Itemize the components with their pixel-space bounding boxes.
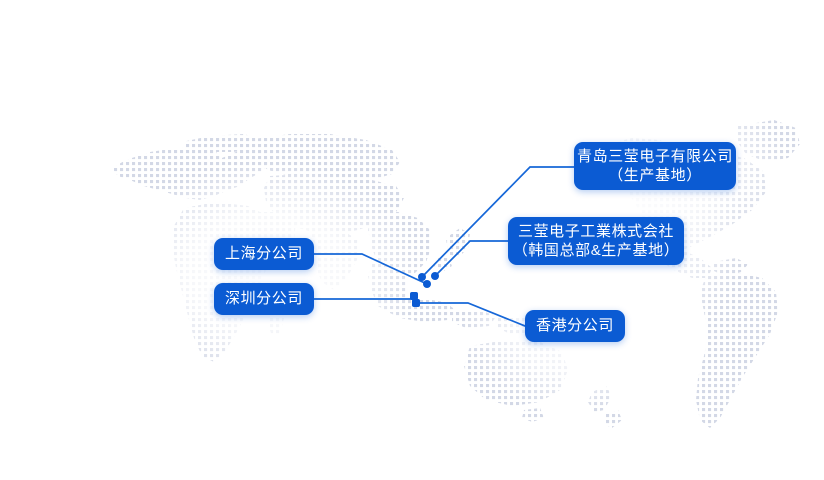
callout-qingdao-line2: （生产基地）	[608, 166, 702, 185]
callout-shenzhen-line1: 深圳分公司	[225, 289, 303, 308]
global-map-infographic: 青岛三莹电子有限公司 （生产基地） 三莹电子工業株式会社 （韩国总部&生产基地）…	[0, 0, 824, 480]
callout-shanghai-line1: 上海分公司	[225, 244, 303, 263]
callout-korea-line1: 三莹电子工業株式会社	[518, 222, 674, 241]
callout-shanghai[interactable]: 上海分公司	[214, 238, 314, 270]
map-landmass-dots	[0, 0, 824, 480]
map-node-korea[interactable]	[431, 272, 439, 280]
map-node-hongkong[interactable]	[412, 299, 420, 307]
callout-korea-line2: （韩国总部&生产基地）	[513, 241, 680, 260]
callout-qingdao-line1: 青岛三莹电子有限公司	[577, 147, 733, 166]
callout-korea[interactable]: 三莹电子工業株式会社 （韩国总部&生产基地）	[508, 217, 684, 265]
world-map-dotted	[0, 0, 824, 480]
callout-qingdao[interactable]: 青岛三莹电子有限公司 （生产基地）	[574, 142, 736, 190]
callout-hongkong[interactable]: 香港分公司	[525, 310, 625, 342]
callout-hongkong-line1: 香港分公司	[536, 316, 614, 335]
callout-shenzhen[interactable]: 深圳分公司	[214, 283, 314, 315]
map-node-shanghai[interactable]	[423, 280, 431, 288]
